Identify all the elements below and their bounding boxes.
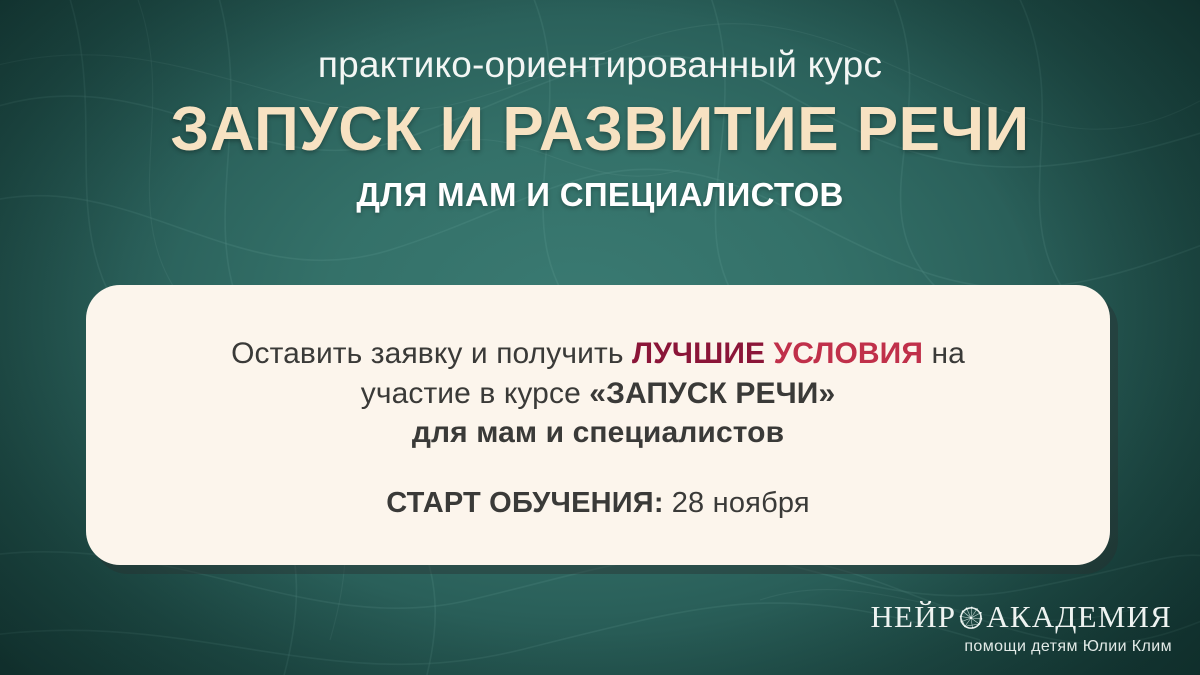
brand-name-before: НЕЙР xyxy=(870,601,956,632)
start-date-row: СТАРТ ОБУЧЕНИЯ:28 ноября xyxy=(386,487,810,520)
page-title: ЗАПУСК И РАЗВИТИЕ РЕЧИ xyxy=(0,99,1200,161)
poster-header: практико-ориентированный курс ЗАПУСК И Р… xyxy=(0,0,1200,212)
brand-logo: НЕЙР xyxy=(870,601,1172,655)
offer-highlight-best: ЛУЧШИЕ xyxy=(632,337,765,370)
offer-text: Оставить заявку и получить ЛУЧШИЕ УСЛОВИ… xyxy=(173,334,1023,454)
start-date-label: СТАРТ ОБУЧЕНИЯ: xyxy=(386,487,664,519)
course-kicker: практико-ориентированный курс xyxy=(0,46,1200,85)
course-audience-subtitle: ДЛЯ МАМ И СПЕЦИАЛИСТОВ xyxy=(0,178,1200,213)
brand-name: НЕЙР xyxy=(870,601,1172,632)
offer-card: Оставить заявку и получить ЛУЧШИЕ УСЛОВИ… xyxy=(86,285,1110,565)
offer-course-name: «ЗАПУСК РЕЧИ» xyxy=(589,377,835,410)
offer-highlight-conditions: УСЛОВИЯ xyxy=(774,337,923,370)
offer-audience: для мам и специалистов xyxy=(173,413,1023,453)
brand-tagline: помощи детям Юлии Клим xyxy=(870,639,1172,655)
poster-canvas: практико-ориентированный курс ЗАПУСК И Р… xyxy=(0,0,1200,675)
brand-name-after: АКАДЕМИЯ xyxy=(986,601,1172,632)
offer-text-part1: Оставить заявку и получить xyxy=(231,337,632,370)
neural-network-circle-icon xyxy=(956,603,986,633)
start-date-value: 28 ноября xyxy=(672,487,810,519)
